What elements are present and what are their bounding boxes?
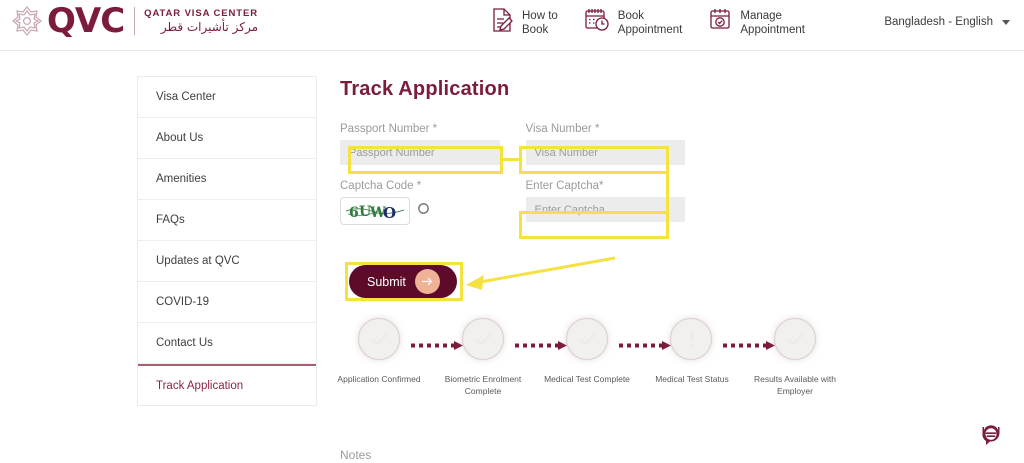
logo-name-ar: مركز تأشيرات قطر — [144, 20, 258, 35]
calendar-check-icon — [708, 7, 733, 38]
notes-label: Notes — [340, 448, 371, 462]
enter-captcha-group: Enter Captcha* — [526, 175, 686, 225]
step-label-2: Biometric Enrolment Complete — [439, 373, 527, 397]
language-selector-label: Bangladesh - English — [884, 16, 993, 28]
sidebar-item-label: About Us — [156, 132, 203, 144]
nav-how-to-book-label: How toBook — [522, 9, 558, 37]
enter-captcha-input[interactable] — [526, 197, 686, 222]
sidebar-item-covid-19[interactable]: COVID-19 — [138, 282, 316, 323]
nav-book-appointment[interactable]: BookAppointment — [584, 7, 683, 38]
chat-bot-icon[interactable] — [974, 419, 1008, 453]
captcha-code-group: Captcha Code * 6 U W O — [340, 175, 500, 225]
visa-number-input[interactable] — [526, 140, 686, 165]
document-pencil-icon — [490, 7, 515, 38]
step-connector-4 — [722, 337, 780, 342]
primary-nav: How toBook — [490, 7, 805, 38]
sidebar-item-label: Contact Us — [156, 337, 213, 349]
step-circle-4[interactable] — [670, 318, 712, 360]
arrow-right-icon — [415, 269, 440, 294]
sidebar-item-label: COVID-19 — [156, 296, 209, 308]
step-label-3: Medical Test Complete — [539, 373, 635, 385]
nav-how-to-book[interactable]: How toBook — [490, 7, 558, 38]
step-circle-5[interactable] — [774, 318, 816, 360]
step-label-4: Medical Test Status — [647, 373, 737, 385]
check-icon — [475, 333, 492, 346]
language-selector[interactable]: Bangladesh - English — [884, 16, 1010, 28]
site-header: QVC QATAR VISA CENTER مركز تأشيرات قطر — [0, 0, 1024, 51]
application-progress-stepper: Application Confirmed Biometric Enrolmen… — [340, 318, 860, 373]
visa-number-label: Visa Number * — [526, 118, 686, 140]
track-application-page: QVC QATAR VISA CENTER مركز تأشيرات قطر — [0, 0, 1024, 463]
logo-subtitle: QATAR VISA CENTER مركز تأشيرات قطر — [144, 7, 258, 35]
step-circle-1[interactable] — [358, 318, 400, 360]
sidebar-item-amenities[interactable]: Amenities — [138, 159, 316, 200]
svg-text:O: O — [383, 204, 396, 222]
step-connector-3 — [618, 337, 676, 342]
nav-book-appointment-label: BookAppointment — [618, 9, 683, 37]
calendar-clock-icon — [584, 7, 611, 38]
step-connector-2 — [514, 337, 572, 342]
sidebar-item-label: Track Application — [156, 380, 243, 392]
sidebar-item-label: FAQs — [156, 214, 185, 226]
chevron-down-icon — [1002, 20, 1010, 25]
step-circle-3[interactable] — [566, 318, 608, 360]
stepper-circles — [340, 318, 860, 373]
check-icon — [579, 333, 596, 346]
step-label-1: Application Confirmed — [333, 373, 425, 385]
form-row-numbers: Passport Number * Visa Number * — [340, 118, 685, 165]
submit-button-label: Submit — [367, 275, 406, 289]
page-title: Track Application — [340, 78, 509, 101]
qvc-logo[interactable]: QVC QATAR VISA CENTER مركز تأشيرات قطر — [10, 4, 258, 38]
submit-button[interactable]: Submit — [349, 265, 457, 298]
sidebar-item-updates-at-qvc[interactable]: Updates at QVC — [138, 241, 316, 282]
logo-name-en: QATAR VISA CENTER — [144, 7, 258, 20]
captcha-code-label: Captcha Code * — [340, 175, 500, 197]
sidebar-item-label: Amenities — [156, 173, 207, 185]
form-row-captcha: Captcha Code * 6 U W O — [340, 175, 685, 225]
track-application-form: Passport Number * Visa Number * Captcha … — [340, 118, 685, 225]
sidebar-item-track-application[interactable]: Track Application — [138, 364, 316, 405]
check-icon — [371, 333, 388, 346]
nav-manage-appointment-label: ManageAppointment — [740, 9, 805, 37]
sidebar-item-label: Updates at QVC — [156, 255, 240, 267]
sidebar-item-contact-us[interactable]: Contact Us — [138, 323, 316, 364]
refresh-icon[interactable] — [417, 202, 430, 220]
exclamation-icon — [688, 330, 695, 348]
step-circle-2[interactable] — [462, 318, 504, 360]
check-icon — [787, 333, 804, 346]
sidebar-item-about-us[interactable]: About Us — [138, 118, 316, 159]
annotation-arrow-to-submit — [466, 258, 615, 290]
passport-field-group: Passport Number * — [340, 118, 500, 165]
step-connector-1 — [410, 337, 468, 342]
sidebar-item-faqs[interactable]: FAQs — [138, 200, 316, 241]
visa-field-group: Visa Number * — [526, 118, 686, 165]
logo-divider — [134, 7, 135, 35]
passport-number-input[interactable] — [340, 140, 500, 165]
captcha-image: 6 U W O — [340, 197, 410, 225]
enter-captcha-label: Enter Captcha* — [526, 175, 686, 197]
svg-text:6: 6 — [349, 205, 359, 221]
sidebar-item-visa-center[interactable]: Visa Center — [138, 77, 316, 118]
logo-abbr: QVC — [47, 4, 124, 38]
step-label-5: Results Available with Employer — [747, 373, 843, 397]
sidebar-item-label: Visa Center — [156, 91, 216, 103]
qatar-star-icon — [10, 4, 44, 38]
passport-number-label: Passport Number * — [340, 118, 500, 140]
sidebar-menu: Visa Center About Us Amenities FAQs Upda… — [137, 76, 317, 406]
nav-manage-appointment[interactable]: ManageAppointment — [708, 7, 805, 38]
